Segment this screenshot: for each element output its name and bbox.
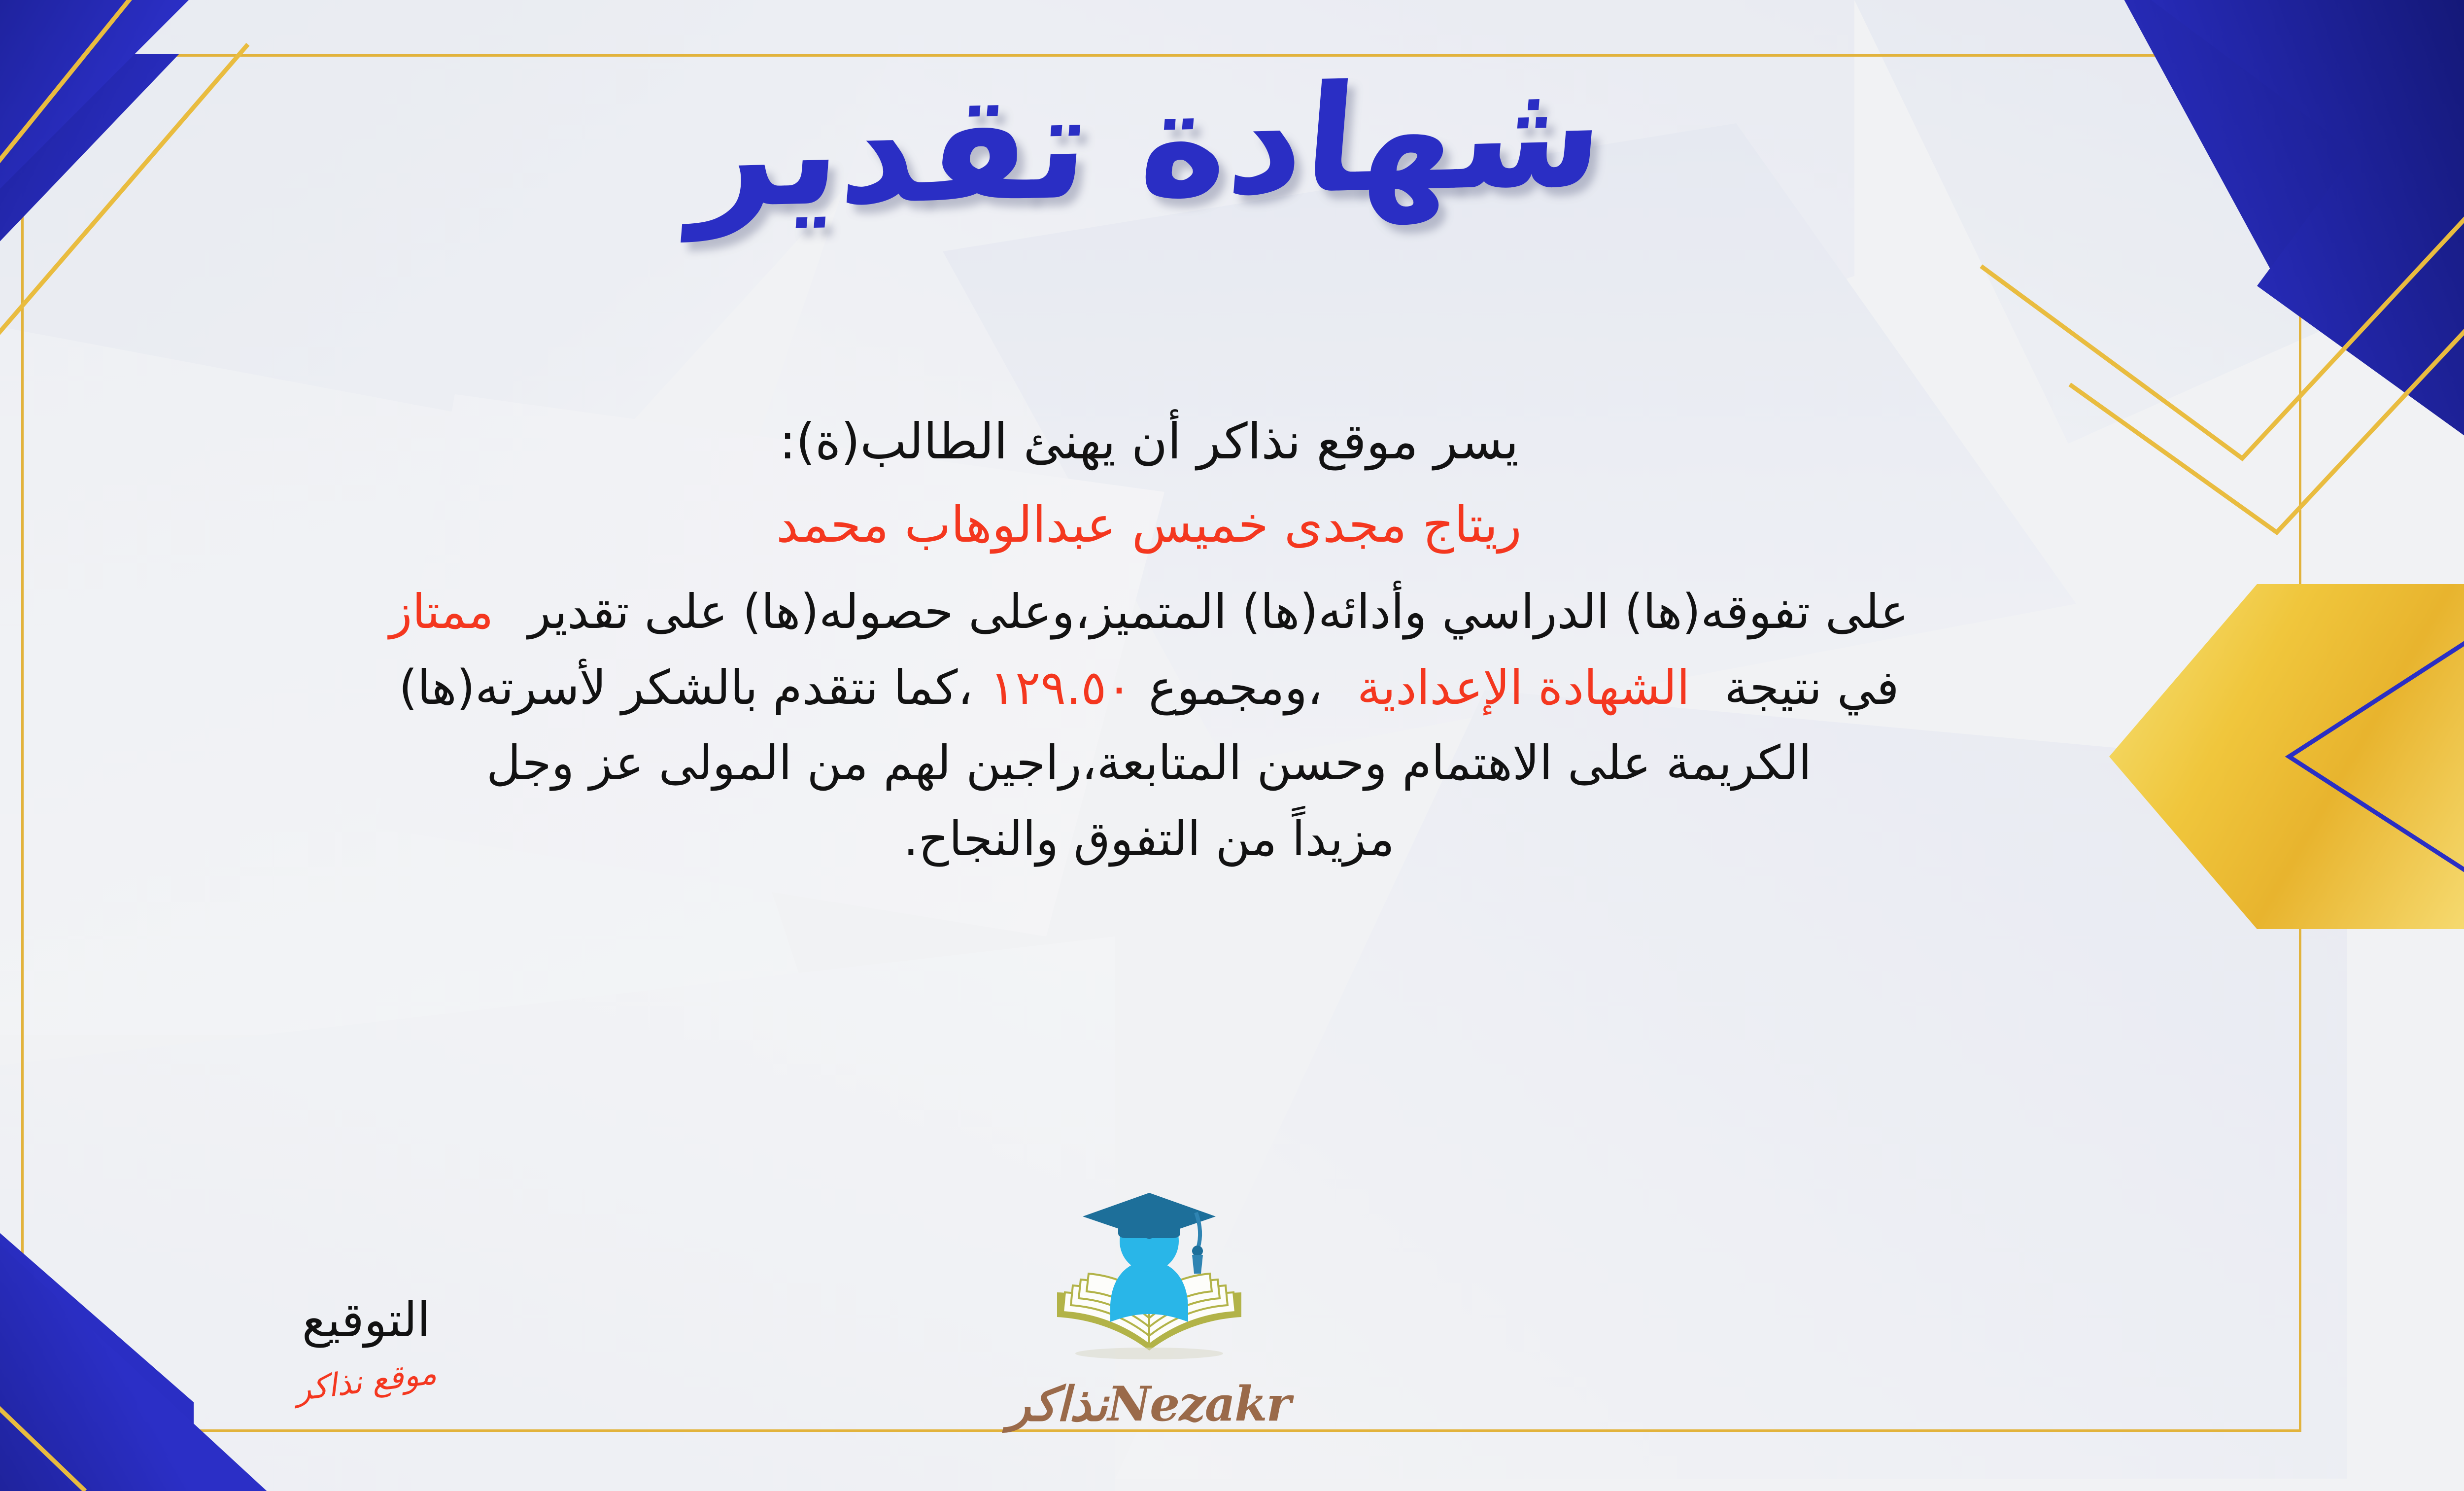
citation-text-1: على تفوقه(ها) الدراسي وأدائه(ها) المتميز…	[528, 584, 1909, 639]
citation-paragraph: على تفوقه(ها) الدراسي وأدائه(ها) المتميز…	[0, 574, 2316, 877]
citation-line-4: مزيداً من التفوق والنجاح.	[0, 801, 2316, 877]
citation-line-2: في نتيجةالشهادة الإعدادية،ومجموع١٢٩.٥٠،ك…	[0, 650, 2316, 726]
citation-text-2b: ،ومجموع	[1149, 660, 1323, 715]
graduate-book-logo-icon	[1043, 1188, 1255, 1380]
certificate-page: شهادة تقدير يسر موقع نذاكر أن يهنئ الطال…	[0, 0, 2464, 1491]
grade-value: ممتاز	[389, 584, 494, 639]
citation-text-2a: في نتيجة	[1724, 660, 1899, 715]
certificate-body: يسر موقع نذاكر أن يهنئ الطالب(ة): ريتاج …	[0, 404, 2316, 877]
certificate-name: الشهادة الإعدادية	[1357, 660, 1690, 715]
intro-line: يسر موقع نذاكر أن يهنئ الطالب(ة):	[0, 404, 2316, 479]
citation-text-2c: ،كما نتقدم بالشكر لأسرته(ها)	[399, 660, 973, 715]
brand-logo-text: Nezakrنذاكر	[1008, 1376, 1290, 1432]
citation-line-3: الكريمة على الاهتمام وحسن المتابعة،راجين…	[0, 726, 2316, 801]
total-score: ١٢٩.٥٠	[990, 660, 1131, 715]
brand-logo-block: Nezakrنذاكر	[0, 1188, 2464, 1432]
citation-line-1: على تفوقه(ها) الدراسي وأدائه(ها) المتميز…	[0, 574, 2316, 650]
student-name: ريتاج مجدى خميس عبدالوهاب محمد	[0, 496, 2316, 554]
